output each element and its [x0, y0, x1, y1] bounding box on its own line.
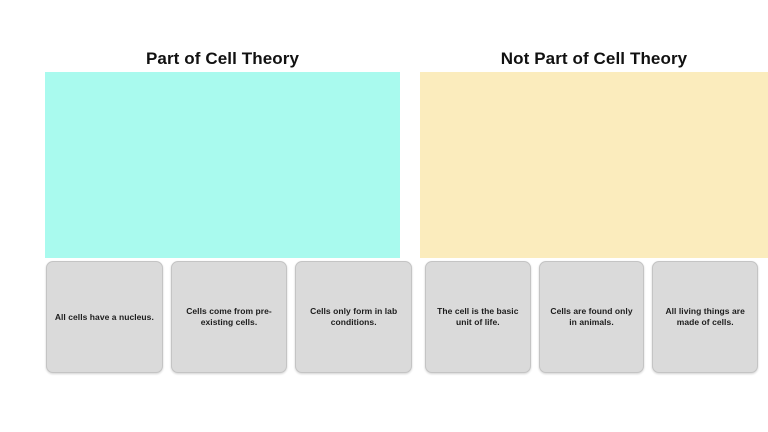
card-label: Cells only form in lab conditions.	[303, 306, 404, 328]
draggable-card[interactable]: Cells only form in lab conditions.	[295, 261, 412, 373]
draggable-card[interactable]: All cells have a nucleus.	[46, 261, 163, 373]
draggable-card[interactable]: All living things are made of cells.	[652, 261, 758, 373]
category-title-part-of-cell-theory: Part of Cell Theory	[45, 49, 400, 69]
card-tray-left: All cells have a nucleus. Cells come fro…	[46, 261, 412, 373]
card-label: All living things are made of cells.	[660, 306, 750, 328]
draggable-card[interactable]: The cell is the basic unit of life.	[425, 261, 531, 373]
dropzone-part-of-cell-theory[interactable]	[45, 72, 400, 258]
draggable-card[interactable]: Cells come from pre-existing cells.	[171, 261, 288, 373]
card-label: All cells have a nucleus.	[55, 312, 154, 323]
dropzone-not-part-of-cell-theory[interactable]	[420, 72, 768, 258]
card-label: The cell is the basic unit of life.	[433, 306, 523, 328]
card-label: Cells come from pre-existing cells.	[179, 306, 280, 328]
category-title-not-part-of-cell-theory: Not Part of Cell Theory	[420, 49, 768, 69]
card-tray-right: The cell is the basic unit of life. Cell…	[425, 261, 758, 373]
card-label: Cells are found only in animals.	[547, 306, 637, 328]
draggable-card[interactable]: Cells are found only in animals.	[539, 261, 645, 373]
sorting-activity-stage: Part of Cell Theory Not Part of Cell The…	[0, 0, 768, 432]
